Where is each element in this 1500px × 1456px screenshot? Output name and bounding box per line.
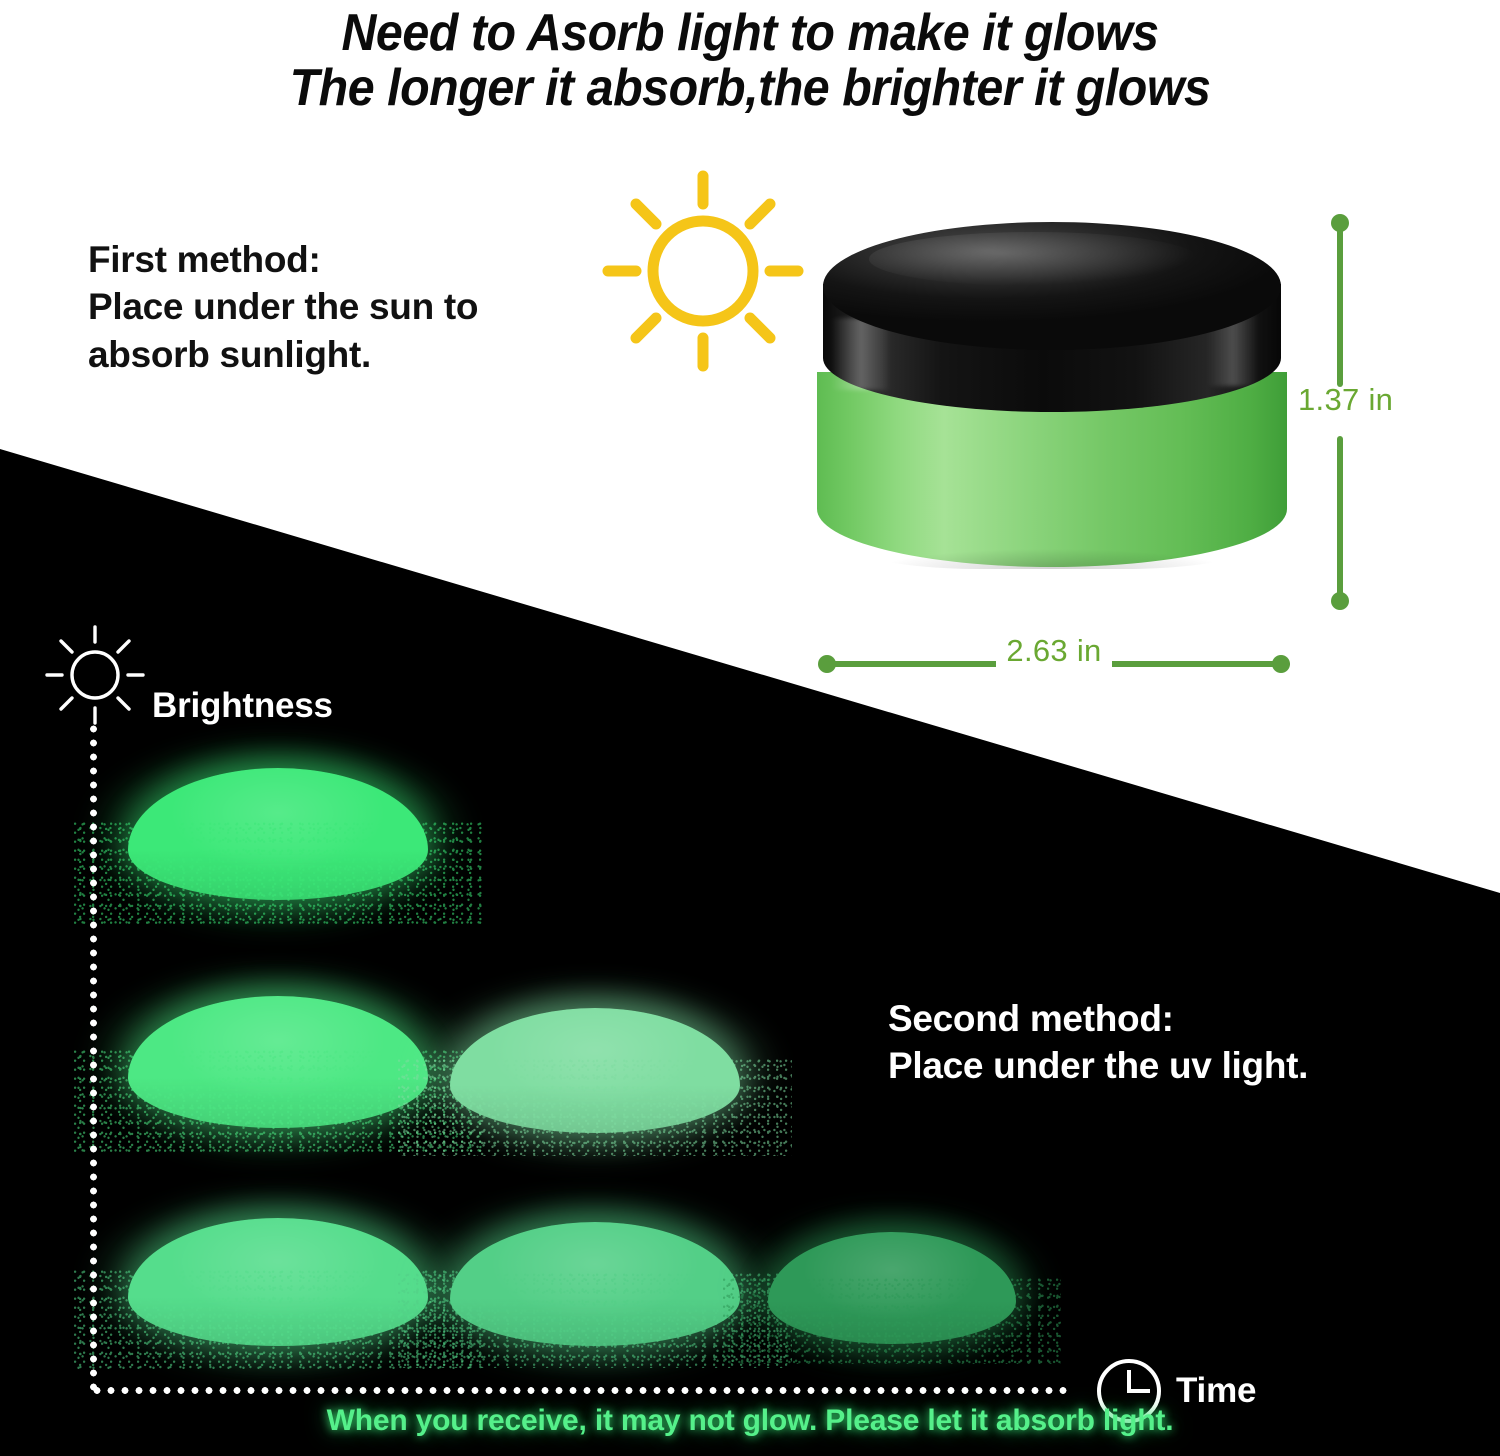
brightness-axis-label: Brightness <box>152 686 333 726</box>
sun-icon-outline <box>42 622 148 728</box>
powder-pile-scatter <box>398 1058 792 1156</box>
powder-pile <box>450 1222 740 1346</box>
first-method-text: First method: Place under the sun to abs… <box>88 236 608 378</box>
second-method-text: Second method: Place under the uv light. <box>888 995 1468 1090</box>
sun-icon <box>598 166 808 376</box>
headline-line-2: The longer it absorb,the brighter it glo… <box>53 61 1448 116</box>
powder-pile <box>128 1218 428 1346</box>
first-method-line-1: Place under the sun to <box>88 283 608 330</box>
dimension-width: 2.63 in <box>818 650 1290 678</box>
powder-pile-scatter <box>723 1277 1060 1364</box>
time-axis <box>90 1387 1068 1394</box>
brightness-axis <box>90 722 97 1394</box>
infographic-canvas: Need to Asorb light to make it glows The… <box>0 0 1500 1456</box>
dimension-height: 1.37 in <box>1330 214 1400 610</box>
dimension-height-line-top <box>1337 222 1343 387</box>
powder-pile <box>128 996 428 1128</box>
dimension-height-dot-bottom <box>1331 592 1349 610</box>
powder-pile <box>768 1232 1016 1344</box>
dimension-height-line-bottom <box>1337 436 1343 602</box>
bottom-note: When you receive, it may not glow. Pleas… <box>0 1404 1500 1438</box>
page-title: Need to Asorb light to make it glows The… <box>0 6 1500 116</box>
first-method-line-2: absorb sunlight. <box>88 331 608 378</box>
headline-line-1: Need to Asorb light to make it glows <box>53 6 1448 61</box>
dimension-width-label: 2.63 in <box>818 633 1290 669</box>
jar-lid-gloss <box>869 232 1199 286</box>
powder-pile <box>128 768 428 900</box>
second-method-title: Second method: <box>888 995 1468 1042</box>
product-jar <box>817 222 1287 607</box>
dimension-height-label: 1.37 in <box>1298 382 1448 418</box>
powder-pile-scatter <box>74 821 482 924</box>
second-method-body: Place under the uv light. <box>888 1042 1468 1089</box>
powder-pile <box>450 1008 740 1133</box>
first-method-title: First method: <box>88 236 608 283</box>
